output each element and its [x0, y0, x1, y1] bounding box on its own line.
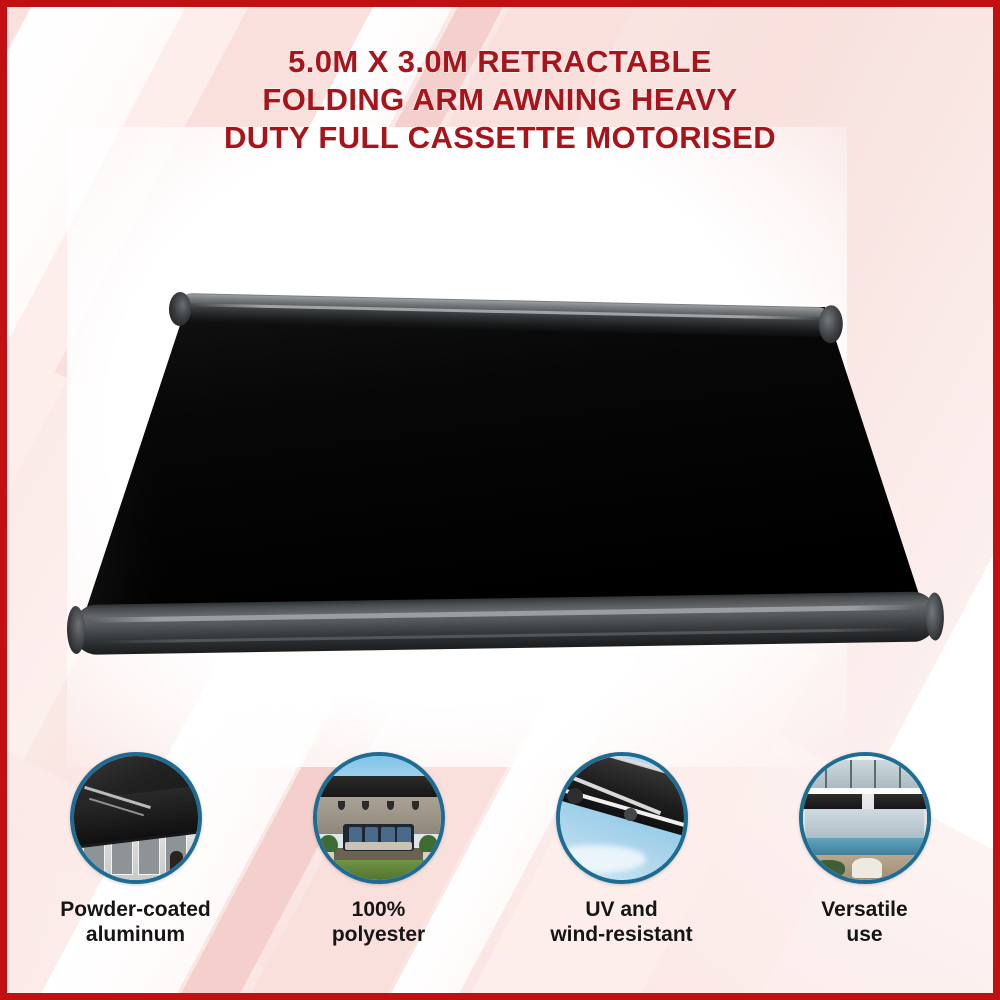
- polyester-icon: [313, 752, 445, 884]
- uv-wind-resistant-icon: [556, 752, 688, 884]
- feature-caption-line-2: use: [821, 922, 907, 947]
- versatile-use-icon: [799, 752, 931, 884]
- feature-list: Powder-coated aluminum: [14, 752, 986, 967]
- feature-caption: 100% polyester: [332, 897, 425, 947]
- feature-caption: Powder-coated aluminum: [60, 897, 211, 947]
- feature-caption-line-2: aluminum: [60, 922, 211, 947]
- feature-versatile-use: Versatile use: [750, 752, 980, 947]
- product-title-line-3: DUTY FULL CASSETTE MOTORISED: [7, 119, 993, 157]
- feature-caption: UV and wind-resistant: [550, 897, 692, 947]
- feature-caption-line-1: UV and: [550, 897, 692, 922]
- powder-coated-aluminum-icon: [70, 752, 202, 884]
- feature-caption-line-1: 100%: [332, 897, 425, 922]
- feature-powder-coated-aluminum: Powder-coated aluminum: [21, 752, 251, 947]
- product-title-line-1: 5.0M X 3.0M RETRACTABLE: [7, 43, 993, 81]
- product-title: 5.0M X 3.0M RETRACTABLE FOLDING ARM AWNI…: [7, 43, 993, 157]
- feature-caption: Versatile use: [821, 897, 907, 947]
- feature-caption-line-2: wind-resistant: [550, 922, 692, 947]
- feature-caption-line-1: Powder-coated: [60, 897, 211, 922]
- feature-polyester: 100% polyester: [264, 752, 494, 947]
- feature-caption-line-2: polyester: [332, 922, 425, 947]
- product-title-line-2: FOLDING ARM AWNING HEAVY: [7, 81, 993, 119]
- product-image-poster: 5.0M X 3.0M RETRACTABLE FOLDING ARM AWNI…: [0, 0, 1000, 1000]
- feature-uv-wind-resistant: UV and wind-resistant: [507, 752, 737, 947]
- feature-caption-line-1: Versatile: [821, 897, 907, 922]
